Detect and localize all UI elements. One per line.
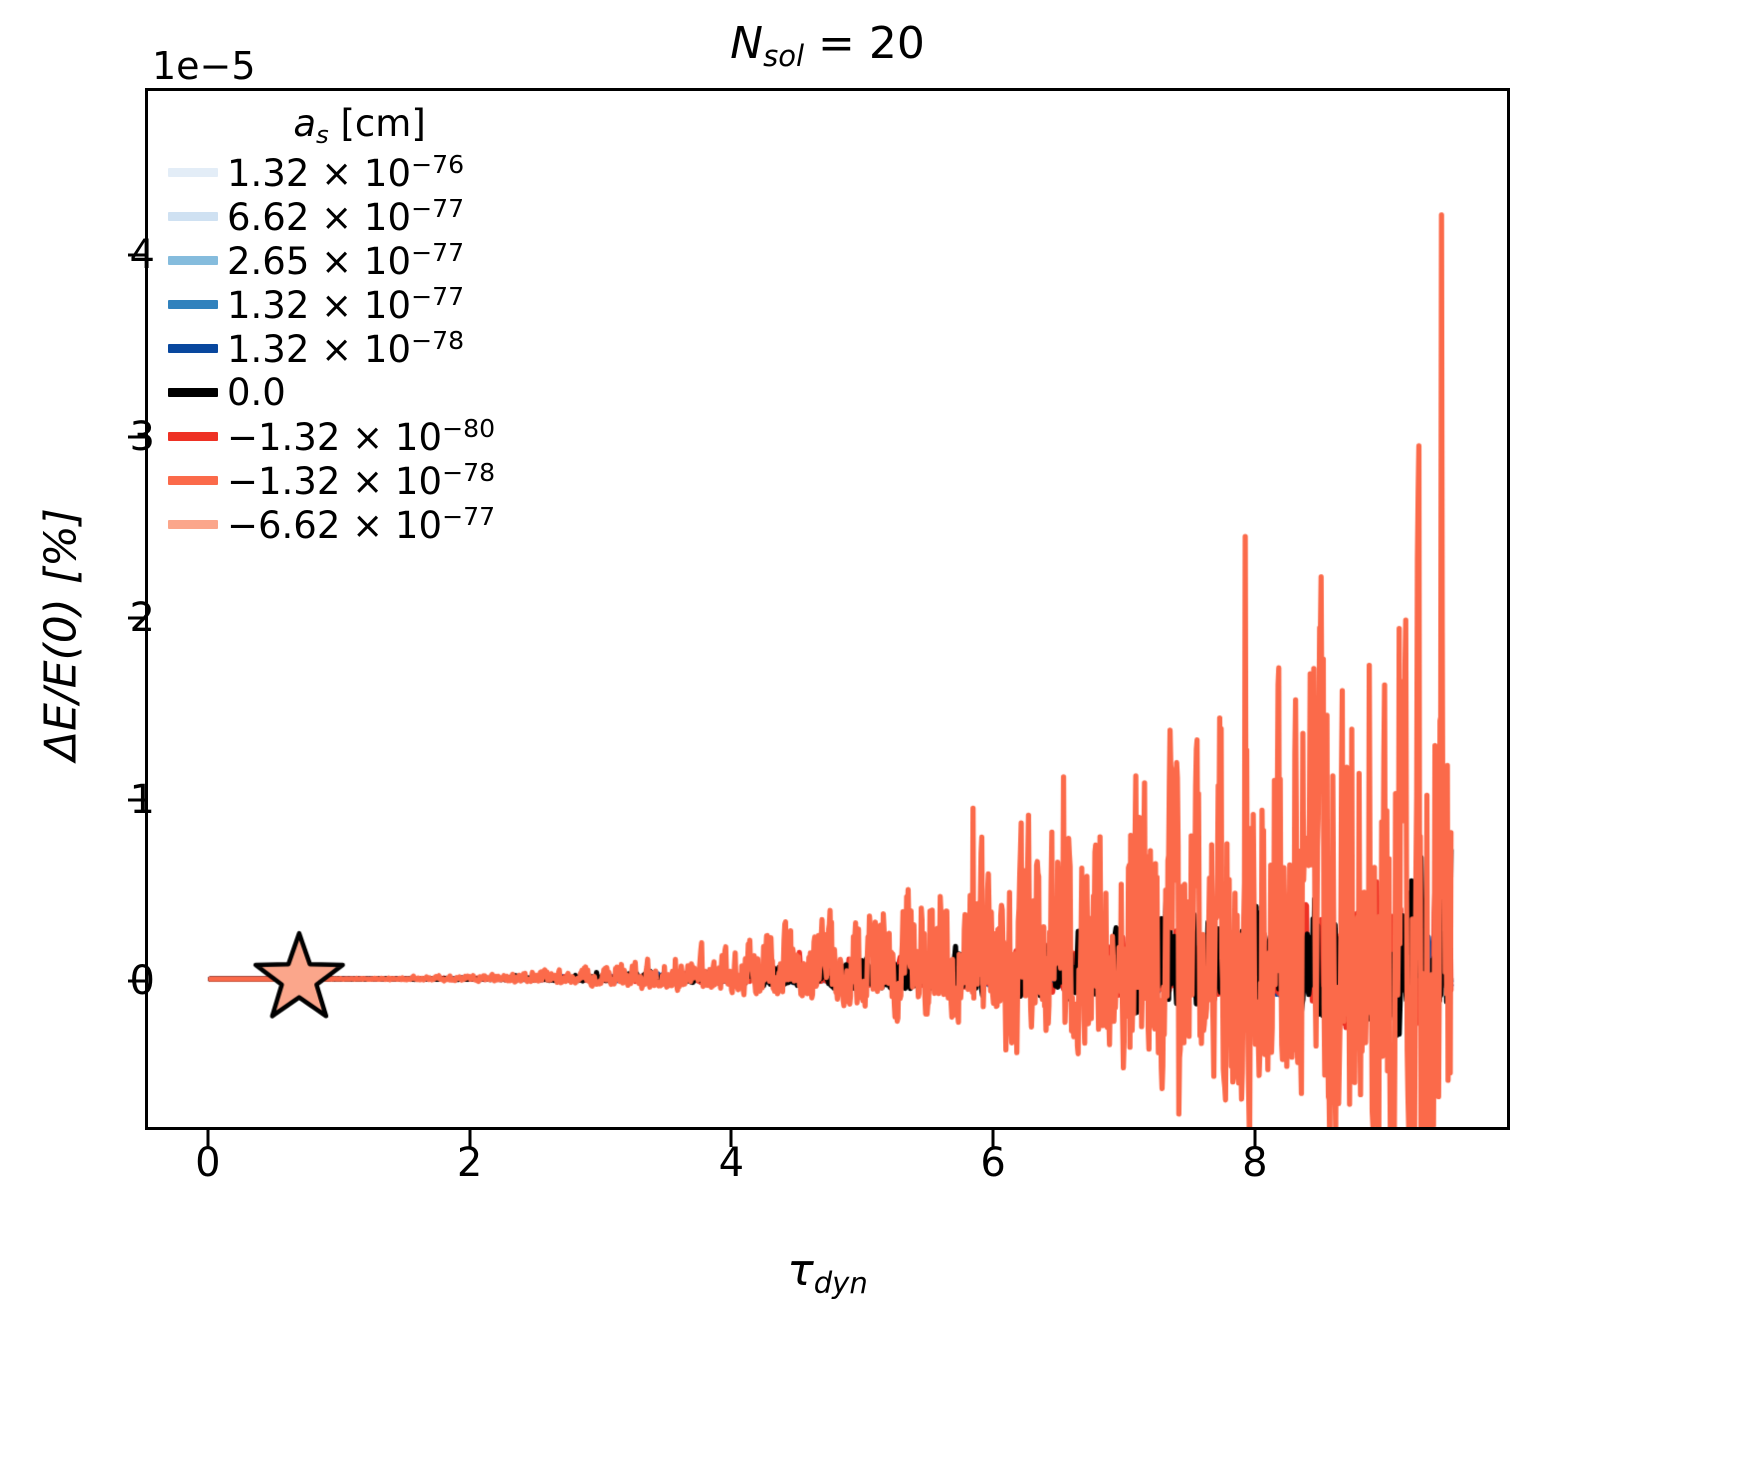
y-tick-label: 4 bbox=[130, 232, 155, 278]
legend-item[interactable]: 0.0 bbox=[168, 370, 495, 414]
legend-item-label: 1.32 × 10−77 bbox=[227, 284, 464, 324]
legend-entries: 1.32 × 10−766.62 × 10−772.65 × 10−771.32… bbox=[168, 150, 495, 546]
legend-item[interactable]: −1.32 × 10−80 bbox=[168, 414, 495, 458]
legend-item-exponent: −77 bbox=[442, 502, 495, 531]
legend-item-label: 2.65 × 10−77 bbox=[227, 240, 464, 280]
x-tick-label: 0 bbox=[195, 1140, 220, 1186]
legend-item[interactable]: 1.32 × 10−78 bbox=[168, 326, 495, 370]
y-tick-label: 0 bbox=[130, 958, 155, 1004]
legend-color-swatch bbox=[168, 344, 218, 353]
legend-color-swatch bbox=[168, 388, 218, 397]
title-symbol: N bbox=[730, 18, 763, 69]
legend-item-label: 6.62 × 10−77 bbox=[227, 196, 464, 236]
legend-item[interactable]: 1.32 × 10−76 bbox=[168, 150, 495, 194]
legend-item-label: 0.0 bbox=[227, 374, 286, 411]
legend-color-swatch bbox=[168, 476, 218, 485]
legend-item-label: −6.62 × 10−77 bbox=[227, 504, 495, 544]
y-axis-label: ΔE/E(0) [%] bbox=[36, 295, 87, 975]
y-tick-label: 1 bbox=[130, 777, 155, 823]
legend-item-exponent: −77 bbox=[411, 238, 464, 267]
y-tick-label: 2 bbox=[130, 595, 155, 641]
legend-color-swatch bbox=[168, 520, 218, 529]
legend-item-exponent: −77 bbox=[411, 194, 464, 223]
title-subscript: sol bbox=[763, 39, 804, 73]
y-tick-label: 3 bbox=[130, 414, 155, 460]
plot-axes: as [cm] 1.32 × 10−766.62 × 10−772.65 × 1… bbox=[145, 88, 1510, 1130]
legend-item[interactable]: −1.32 × 10−78 bbox=[168, 458, 495, 502]
x-tick-label: 6 bbox=[980, 1140, 1005, 1186]
legend-color-swatch bbox=[168, 432, 218, 441]
y-axis-offset-text: 1e−5 bbox=[152, 44, 256, 88]
legend-item-exponent: −77 bbox=[411, 282, 464, 311]
legend-title-unit: [cm] bbox=[329, 102, 426, 145]
legend-item[interactable]: −6.62 × 10−77 bbox=[168, 502, 495, 546]
x-tick-label: 4 bbox=[719, 1140, 744, 1186]
legend-color-swatch bbox=[168, 256, 218, 265]
legend-item[interactable]: 2.65 × 10−77 bbox=[168, 238, 495, 282]
legend-color-swatch bbox=[168, 300, 218, 309]
legend-item[interactable]: 1.32 × 10−77 bbox=[168, 282, 495, 326]
y-axis-label-text: ΔE/E(0) [%] bbox=[36, 508, 87, 761]
legend-item-exponent: −80 bbox=[442, 414, 495, 443]
legend-item-label: −1.32 × 10−78 bbox=[227, 460, 495, 500]
legend-item-label: −1.32 × 10−80 bbox=[227, 416, 495, 456]
legend-title: as [cm] bbox=[168, 103, 495, 150]
legend-item-exponent: −78 bbox=[442, 458, 495, 487]
legend-title-subscript: s bbox=[316, 120, 329, 149]
legend: as [cm] 1.32 × 10−766.62 × 10−772.65 × 1… bbox=[164, 99, 501, 550]
x-axis-label: τdyn bbox=[145, 1245, 1510, 1300]
figure-root: Nsol = 20 1e−5 as [cm] 1.32 × 10−766.62 … bbox=[0, 0, 1763, 1458]
plot-title: Nsol = 20 bbox=[145, 18, 1510, 73]
legend-item[interactable]: 6.62 × 10−77 bbox=[168, 194, 495, 238]
legend-item-exponent: −76 bbox=[411, 150, 464, 179]
legend-item-label: 1.32 × 10−76 bbox=[227, 152, 464, 192]
legend-color-swatch bbox=[168, 212, 218, 221]
x-tick-label: 2 bbox=[457, 1140, 482, 1186]
title-value: = 20 bbox=[804, 18, 925, 69]
x-axis-label-subscript: dyn bbox=[814, 1266, 868, 1300]
legend-color-swatch bbox=[168, 168, 218, 177]
x-tick-label: 8 bbox=[1242, 1140, 1267, 1186]
legend-title-symbol: a bbox=[293, 102, 316, 145]
x-axis-label-symbol: τ bbox=[787, 1245, 814, 1296]
legend-item-label: 1.32 × 10−78 bbox=[227, 328, 464, 368]
legend-item-exponent: −78 bbox=[411, 326, 464, 355]
